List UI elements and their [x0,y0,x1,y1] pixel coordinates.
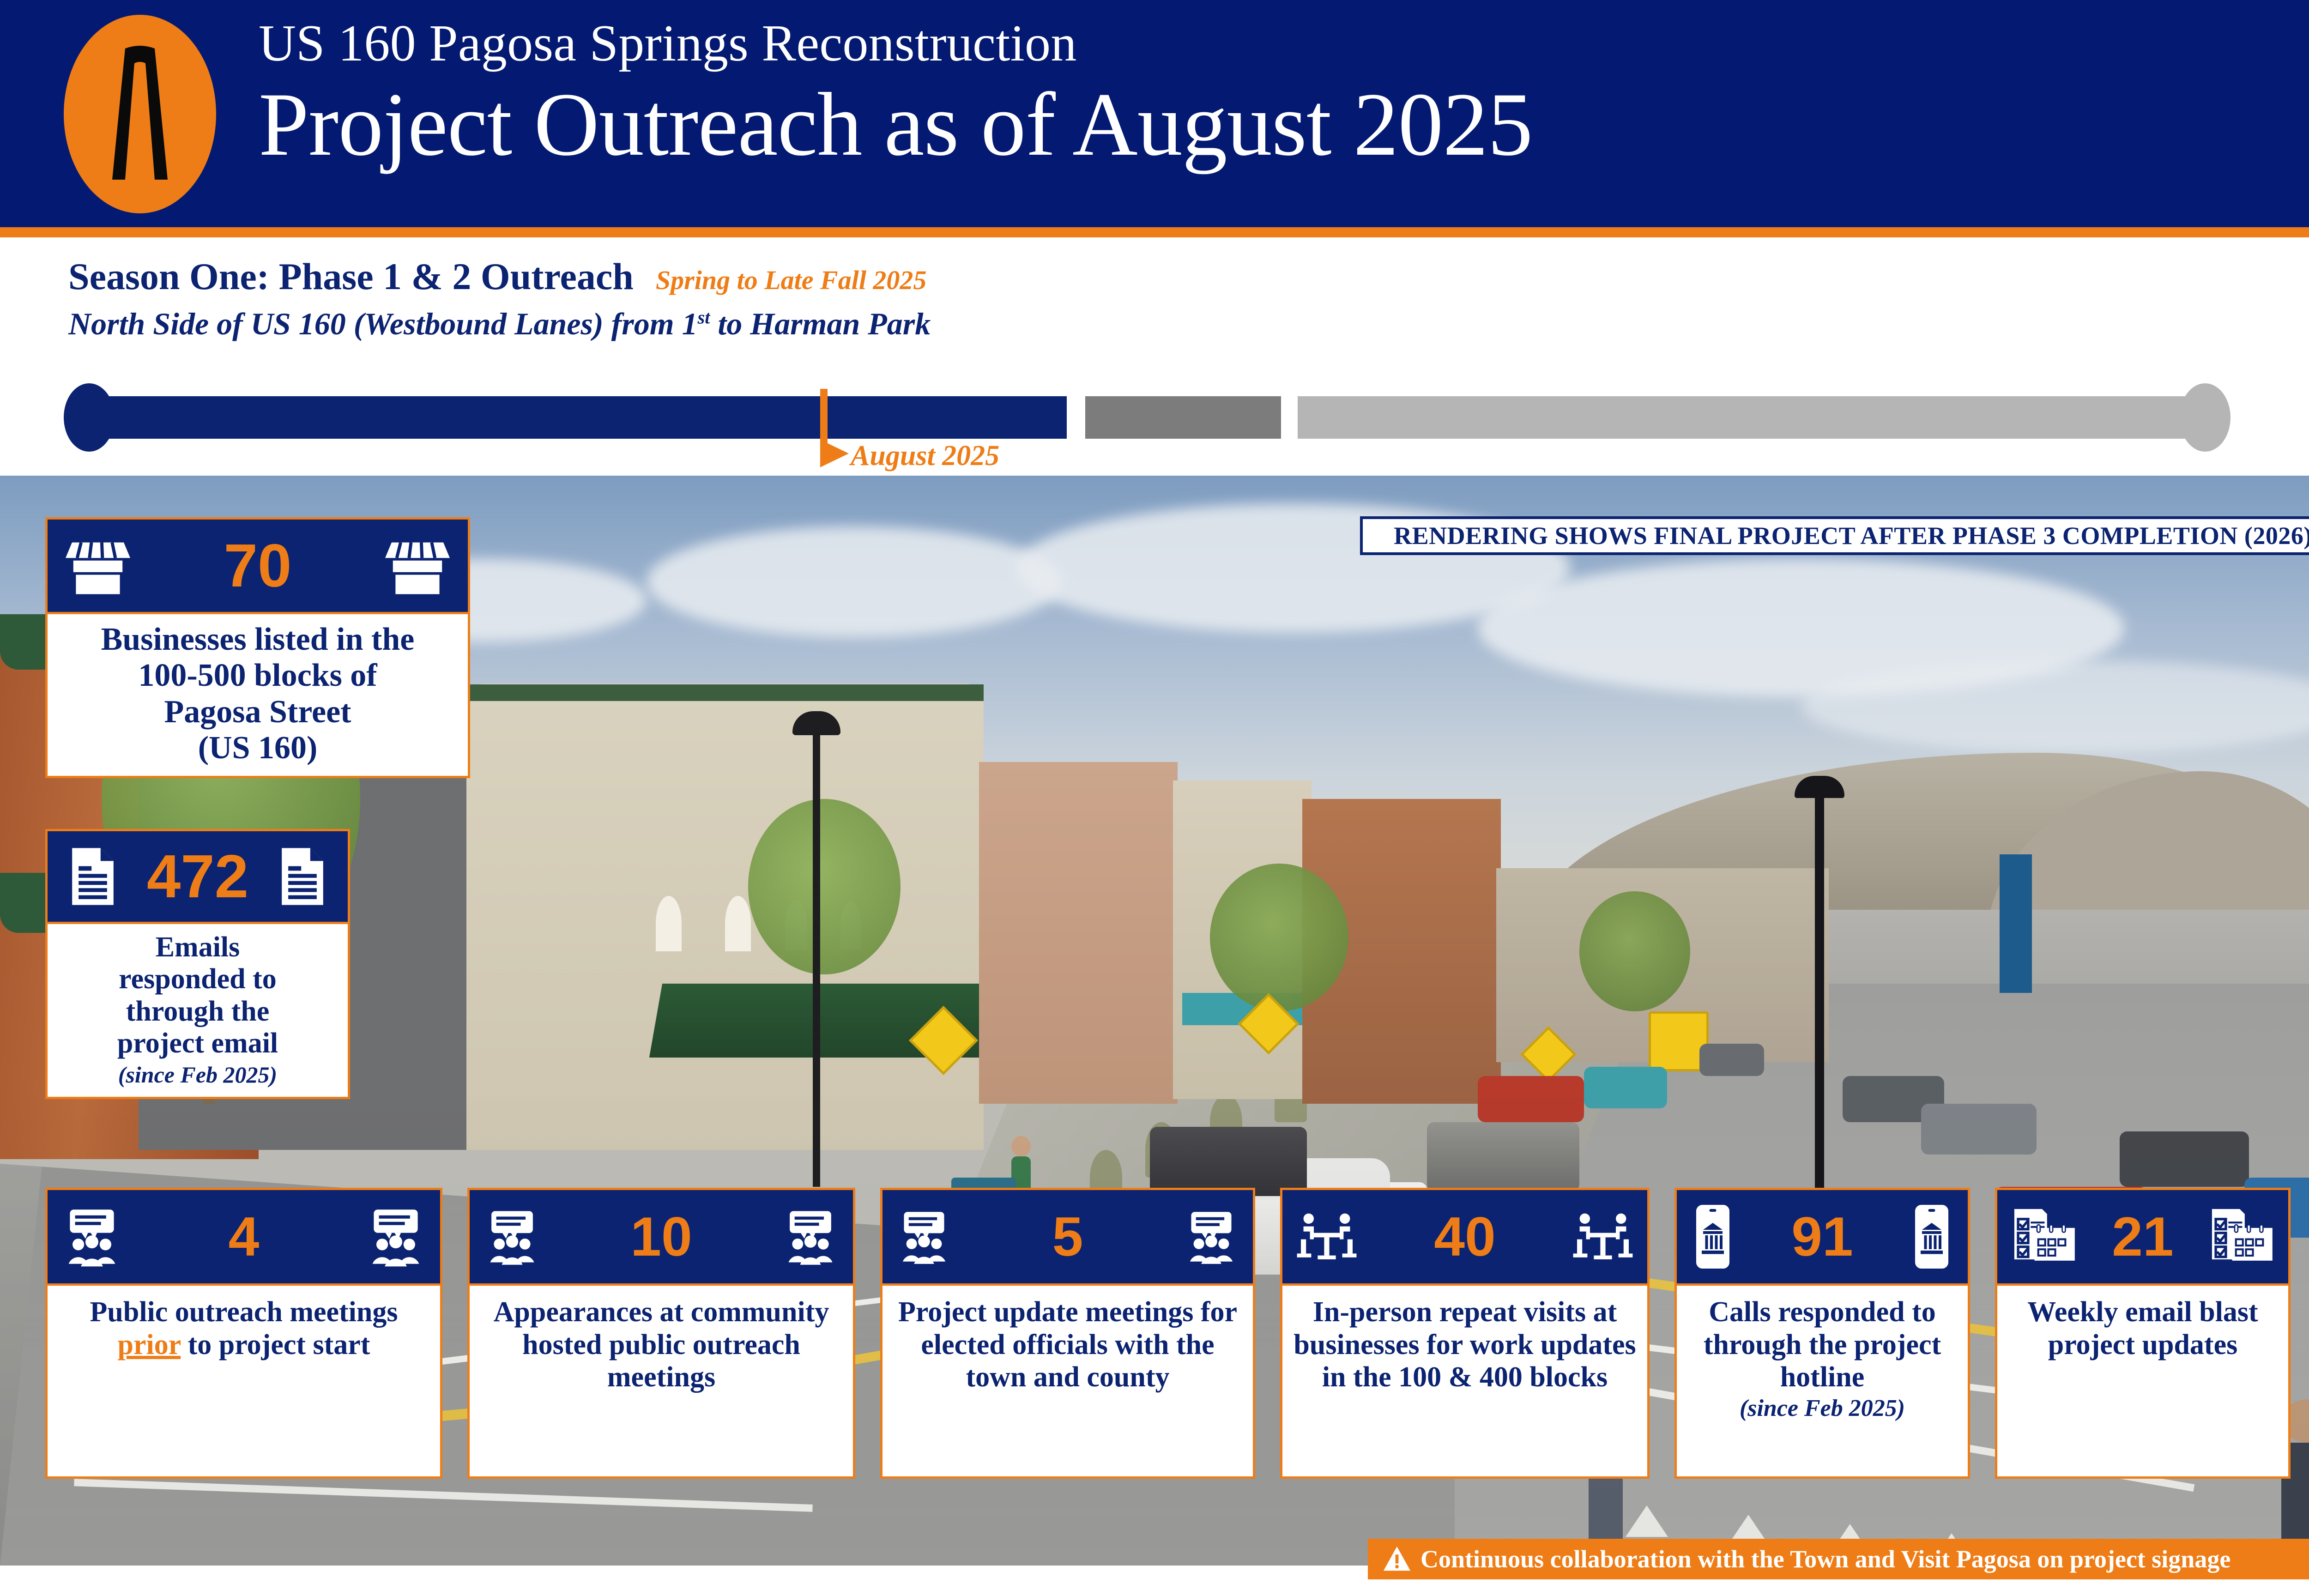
stat-card-community-hosted-appearances: 10 Appearances at community hosted publi… [467,1188,855,1479]
stat-card-hotline-calls: 91 Calls responded to through the projec… [1674,1188,1970,1479]
stat-card-businesses: 70 Businesses listed in the 100-500 bloc… [45,517,470,778]
storefront-icon [63,533,133,598]
stat-card-elected-official-updates: 5 Project update meetings for elected of… [880,1188,1255,1479]
stat-card-body: Public outreach meetings prior to projec… [45,1286,442,1479]
pavement-arrow [1626,1505,1668,1537]
stat-card-body: Emails responded to through the project … [45,924,350,1099]
stat-card-public-outreach-meetings: 4 Public outreach meetings prior to proj… [45,1188,442,1479]
stat-value: 40 [1359,1209,1571,1264]
presentation-audience-icon [60,1204,124,1269]
stat-label: Calls responded to through the project h… [1704,1296,1941,1393]
project-logo-badge [64,15,216,213]
timeline-end-cap [2180,383,2230,452]
peach-building [979,762,1178,1104]
street-tree [748,799,901,974]
stat-value: 91 [1737,1209,1908,1264]
storefront-icon [383,533,452,598]
header-eyebrow: US 160 Pagosa Springs Reconstruction [259,18,1532,69]
footer-banner: Continuous collaboration with the Town a… [1368,1539,2309,1579]
season-title: Season One: Phase 1 & 2 Outreach [68,255,634,298]
vehicle-distant [1699,1044,1764,1076]
label-before: Public outreach meetings [90,1296,398,1328]
page-title: Project Outreach as of August 2025 [259,74,1532,175]
stat-card-header: 472 [45,829,350,924]
road-icon [105,45,175,183]
warning-triangle-icon [1383,1545,1411,1573]
timeline-start-cap [64,383,115,452]
stat-card-business-visits: 40 In-person repeat visits at businesses… [1280,1188,1650,1479]
street-tree [1579,891,1690,1011]
stat-label-line: project email [54,1028,341,1059]
street-tree [1210,864,1348,1011]
timeline-section: Season One: Phase 1 & 2 Outreach Spring … [0,237,2309,476]
vehicle [2120,1131,2249,1187]
header-title-group: US 160 Pagosa Springs Reconstruction Pro… [259,18,1532,175]
document-icon [273,844,332,909]
stat-card-body: Calls responded to through the project h… [1674,1286,1970,1479]
timeline-current-marker-arrow-icon [820,440,849,467]
label-after: to project start [181,1329,370,1360]
season-heading-row: Season One: Phase 1 & 2 Outreach Spring … [68,255,926,298]
vehicle-red [1478,1076,1584,1122]
presentation-audience-icon [780,1206,841,1267]
window [725,896,751,951]
stat-value: 10 [543,1209,780,1264]
stat-label-line: Businesses listed in the [54,622,461,658]
vehicle-truck [1427,1122,1579,1191]
stat-value: 472 [122,846,273,907]
stat-label-line: responded to [54,963,341,995]
season-subtitle: Spring to Late Fall 2025 [656,265,927,296]
footer-text: Continuous collaboration with the Town a… [1420,1545,2230,1573]
pole-banner [2000,854,2032,993]
vehicle-car [1150,1127,1307,1196]
season-description: North Side of US 160 (Westbound Lanes) f… [68,306,931,342]
stat-card-body: Project update meetings for elected offi… [880,1286,1255,1479]
phone-hotline-icon [1689,1202,1737,1271]
stat-value: 21 [2079,1209,2207,1264]
stat-card-weekly-email-blast: 21 Weekly email blast project updates [1995,1188,2291,1479]
checklist-calendar-icon [2009,1204,2079,1269]
stat-label-line: through the [54,996,341,1028]
stat-card-body: In-person repeat visits at businesses fo… [1280,1286,1650,1479]
vehicle-teal [1584,1067,1667,1108]
stat-value: 70 [133,535,383,596]
document-icon [63,844,122,909]
presentation-audience-icon [895,1207,954,1266]
stat-label-line: Emails [54,931,341,963]
label-highlight-prior: prior [118,1329,181,1360]
meeting-table-icon [1571,1204,1635,1269]
roofline [466,684,984,701]
timeline-current-marker-label: August 2025 [851,440,999,472]
stat-card-header: 4 [45,1188,442,1286]
stat-note: (since Feb 2025) [1684,1395,1960,1422]
stat-value: 4 [124,1209,363,1264]
checklist-calendar-icon [2207,1204,2276,1269]
stat-card-header: 10 [467,1188,855,1286]
stat-label-line: (US 160) [54,730,461,766]
season-description-pre: North Side of US 160 (Westbound Lanes) f… [68,306,698,341]
presentation-audience-icon [482,1206,543,1267]
presentation-audience-icon [363,1204,428,1269]
phone-hotline-icon [1908,1202,1956,1271]
season-description-post: to Harman Park [710,306,931,341]
stat-card-header: 21 [1995,1188,2291,1286]
timeline-segment-phase-3 [1298,396,2215,439]
stat-label-line: 100-500 blocks of [54,658,461,694]
timeline-segment-phase-1-2 [82,396,1067,439]
stat-card-header: 5 [880,1188,1255,1286]
rendering-disclaimer: RENDERING SHOWS FINAL PROJECT AFTER PHAS… [1360,516,2309,555]
stat-card-emails: 472 Emails responded to through the proj… [45,829,350,1099]
cloud [647,526,1062,637]
window [656,896,682,951]
stat-card-header: 70 [45,517,470,614]
presentation-audience-icon [1182,1207,1241,1266]
season-description-sup: st [698,307,710,327]
stat-card-body: Businesses listed in the 100-500 blocks … [45,614,470,778]
stat-label-line: Pagosa Street [54,694,461,730]
stat-card-body: Appearances at community hosted public o… [467,1286,855,1479]
timeline-segment-winter-shutdown [1085,396,1281,439]
stat-value: 5 [954,1209,1182,1264]
stat-card-header: 91 [1674,1188,1970,1286]
stat-card-header: 40 [1280,1188,1650,1286]
meeting-table-icon [1294,1204,1359,1269]
stat-note: (since Feb 2025) [54,1062,341,1088]
street-light-pole [813,716,820,1187]
header-accent-bar [0,227,2309,237]
stat-card-body: Weekly email blast project updates [1995,1286,2291,1479]
vehicle [1921,1104,2037,1155]
